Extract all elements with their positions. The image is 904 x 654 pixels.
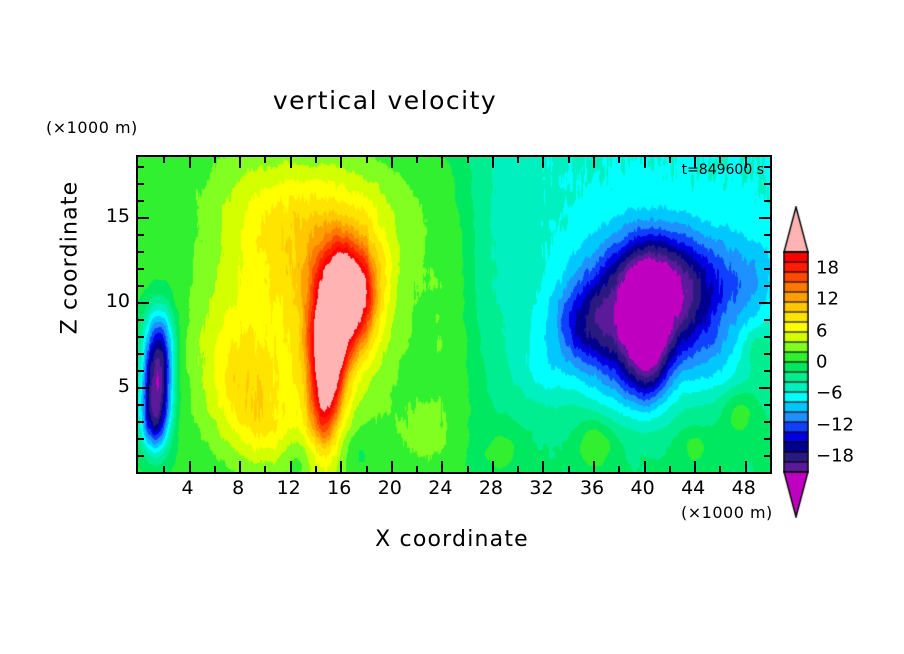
y-axis-title: Z coordinate bbox=[58, 158, 83, 358]
y-minor-tick-right bbox=[764, 183, 770, 185]
y-minor-tick bbox=[138, 370, 144, 372]
y-minor-tick-right bbox=[764, 319, 770, 321]
x-tick-label: 24 bbox=[428, 477, 452, 499]
colorbar-tick-label: 6 bbox=[816, 320, 827, 341]
x-minor-tick-top bbox=[366, 157, 368, 163]
y-minor-tick bbox=[138, 200, 144, 202]
x-minor-tick-top bbox=[163, 157, 165, 163]
x-tick-label: 20 bbox=[378, 477, 402, 499]
x-major-tick bbox=[391, 461, 393, 472]
y-minor-tick-right bbox=[764, 200, 770, 202]
x-minor-tick-top bbox=[214, 157, 216, 163]
y-minor-tick-right bbox=[764, 353, 770, 355]
y-minor-tick-right bbox=[764, 455, 770, 457]
x-tick-label: 16 bbox=[327, 477, 351, 499]
y-minor-tick bbox=[138, 251, 144, 253]
x-tick-label: 12 bbox=[277, 477, 301, 499]
x-minor-tick-top bbox=[264, 157, 266, 163]
colorbar-tick-label: −6 bbox=[816, 383, 843, 404]
plot-area: t=849600 s bbox=[136, 155, 772, 474]
x-major-tick bbox=[290, 461, 292, 472]
y-minor-tick bbox=[138, 353, 144, 355]
colorbar-tick-label: 12 bbox=[816, 289, 839, 310]
x-major-tick-top bbox=[189, 157, 191, 168]
x-minor-tick-top bbox=[517, 157, 519, 163]
x-minor-tick bbox=[568, 466, 570, 472]
y-major-tick bbox=[138, 302, 149, 304]
x-minor-tick bbox=[467, 466, 469, 472]
x-major-tick-top bbox=[745, 157, 747, 168]
x-major-tick-top bbox=[340, 157, 342, 168]
x-minor-tick bbox=[214, 466, 216, 472]
y-major-tick-right bbox=[759, 302, 770, 304]
x-major-tick bbox=[745, 461, 747, 472]
y-minor-tick-right bbox=[764, 404, 770, 406]
x-minor-tick-top bbox=[416, 157, 418, 163]
colorbar-gradient bbox=[783, 206, 809, 518]
y-minor-tick-right bbox=[764, 336, 770, 338]
y-tick-label: 15 bbox=[104, 205, 130, 227]
y-minor-tick-right bbox=[764, 234, 770, 236]
x-minor-tick bbox=[618, 466, 620, 472]
y-minor-tick-right bbox=[764, 421, 770, 423]
x-tick-label: 28 bbox=[479, 477, 503, 499]
y-minor-tick bbox=[138, 166, 144, 168]
x-major-tick-top bbox=[441, 157, 443, 168]
y-minor-tick bbox=[138, 285, 144, 287]
y-major-tick-right bbox=[759, 387, 770, 389]
y-minor-tick bbox=[138, 438, 144, 440]
y-minor-tick-right bbox=[764, 251, 770, 253]
x-tick-label: 40 bbox=[631, 477, 655, 499]
y-minor-tick bbox=[138, 183, 144, 185]
x-major-tick bbox=[644, 461, 646, 472]
x-minor-tick-top bbox=[669, 157, 671, 163]
x-tick-label: 44 bbox=[681, 477, 705, 499]
x-axis-title: X coordinate bbox=[136, 527, 768, 552]
x-minor-tick bbox=[366, 466, 368, 472]
y-minor-tick-right bbox=[764, 268, 770, 270]
x-major-tick bbox=[694, 461, 696, 472]
x-major-tick bbox=[441, 461, 443, 472]
y-minor-tick bbox=[138, 421, 144, 423]
page-title: vertical velocity bbox=[0, 86, 770, 115]
x-minor-tick-top bbox=[719, 157, 721, 163]
x-tick-label: 4 bbox=[182, 477, 194, 499]
y-minor-tick bbox=[138, 268, 144, 270]
x-minor-tick bbox=[264, 466, 266, 472]
x-minor-tick-top bbox=[568, 157, 570, 163]
y-major-tick bbox=[138, 217, 149, 219]
x-major-tick-top bbox=[694, 157, 696, 168]
colorbar-tick-label: −12 bbox=[816, 414, 854, 435]
vertical-velocity-contour-field bbox=[138, 157, 770, 472]
y-major-tick bbox=[138, 387, 149, 389]
x-major-tick-top bbox=[644, 157, 646, 168]
x-major-tick bbox=[239, 461, 241, 472]
x-minor-tick-top bbox=[770, 157, 772, 163]
x-major-tick bbox=[189, 461, 191, 472]
x-minor-tick bbox=[517, 466, 519, 472]
x-minor-tick bbox=[416, 466, 418, 472]
x-minor-tick bbox=[669, 466, 671, 472]
x-major-tick bbox=[492, 461, 494, 472]
x-major-tick bbox=[593, 461, 595, 472]
x-minor-tick bbox=[719, 466, 721, 472]
x-minor-tick bbox=[315, 466, 317, 472]
y-minor-tick bbox=[138, 336, 144, 338]
x-tick-label: 32 bbox=[529, 477, 553, 499]
x-tick-label: 36 bbox=[580, 477, 604, 499]
x-minor-tick-top bbox=[315, 157, 317, 163]
y-minor-tick bbox=[138, 234, 144, 236]
x-minor-tick-top bbox=[467, 157, 469, 163]
x-major-tick bbox=[340, 461, 342, 472]
z-axis-unit-label: (×1000 m) bbox=[46, 118, 138, 137]
y-minor-tick-right bbox=[764, 370, 770, 372]
x-minor-tick-top bbox=[618, 157, 620, 163]
y-minor-tick bbox=[138, 319, 144, 321]
y-minor-tick-right bbox=[764, 438, 770, 440]
colorbar-tick-label: 18 bbox=[816, 257, 839, 278]
x-major-tick bbox=[542, 461, 544, 472]
y-minor-tick-right bbox=[764, 166, 770, 168]
y-minor-tick-right bbox=[764, 285, 770, 287]
x-tick-label: 48 bbox=[732, 477, 756, 499]
y-major-tick-right bbox=[759, 217, 770, 219]
colorbar-tick-label: −18 bbox=[816, 446, 854, 467]
x-major-tick-top bbox=[593, 157, 595, 168]
x-axis-unit-label: (×1000 m) bbox=[681, 503, 773, 522]
figure-root: vertical velocity (×1000 m) (×1000 m) t=… bbox=[0, 0, 904, 654]
colorbar-tick-label: 0 bbox=[816, 352, 827, 373]
x-tick-label: 8 bbox=[232, 477, 244, 499]
y-tick-label: 5 bbox=[104, 375, 130, 397]
y-minor-tick bbox=[138, 404, 144, 406]
x-major-tick-top bbox=[542, 157, 544, 168]
x-major-tick-top bbox=[239, 157, 241, 168]
x-major-tick-top bbox=[290, 157, 292, 168]
x-major-tick-top bbox=[492, 157, 494, 168]
y-tick-label: 10 bbox=[104, 290, 130, 312]
colorbar bbox=[783, 206, 809, 518]
y-minor-tick bbox=[138, 455, 144, 457]
x-major-tick-top bbox=[391, 157, 393, 168]
x-minor-tick bbox=[163, 466, 165, 472]
x-minor-tick bbox=[770, 466, 772, 472]
